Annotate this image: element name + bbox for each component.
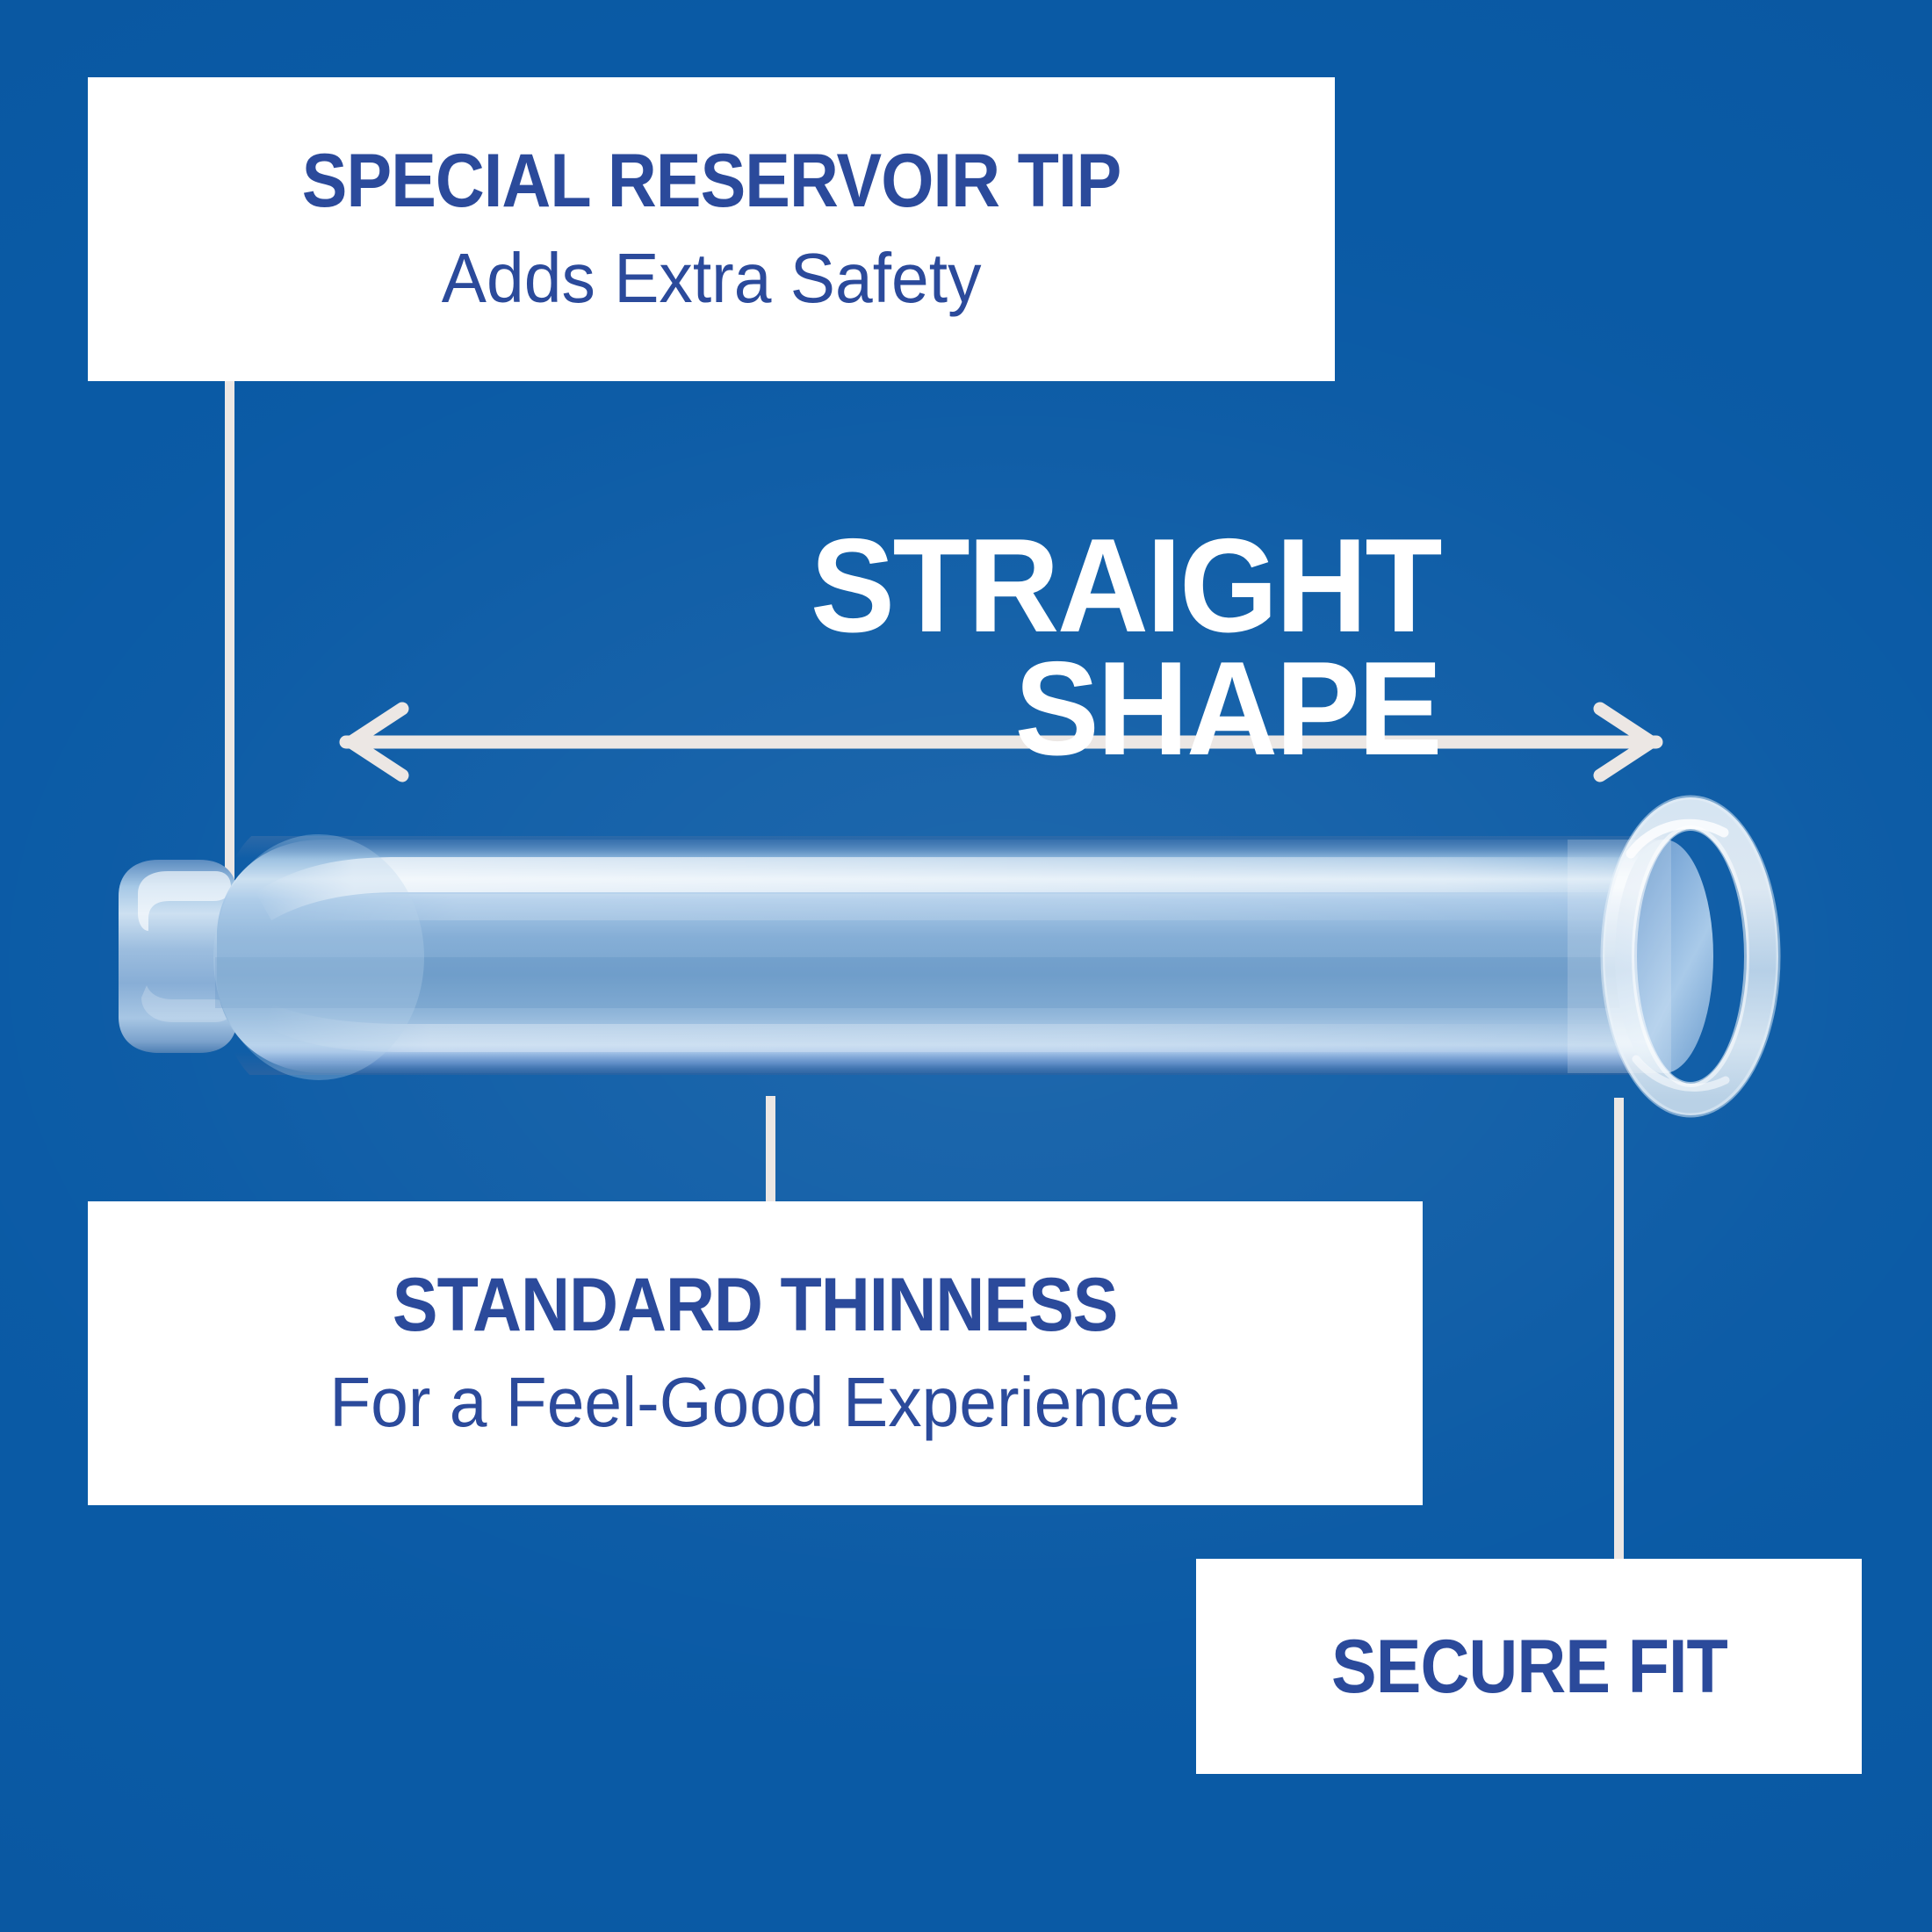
body-upper-glow xyxy=(294,894,1664,920)
body-bottom-edge xyxy=(215,1052,1673,1075)
callout-secure-fit-title: SECURE FIT xyxy=(1331,1629,1727,1705)
body-mid-shadow xyxy=(215,957,1673,1008)
condom-illustration xyxy=(83,790,1866,1142)
infographic-canvas: STRAIGHT SHAPE xyxy=(0,0,1932,1932)
body-top-edge xyxy=(215,836,1673,859)
headline-line-1: STRAIGHT xyxy=(406,525,1440,648)
condom-body-shading xyxy=(213,834,1673,1080)
callout-secure-fit[interactable]: SECURE FIT xyxy=(1196,1559,1862,1774)
double-headed-width-arrow xyxy=(334,698,1669,786)
leader-line-secure-fit xyxy=(1614,1098,1624,1561)
callout-reservoir-tip-title: SPECIAL RESERVOIR TIP xyxy=(302,143,1121,219)
callout-standard-thinness-title: STANDARD THINNESS xyxy=(393,1267,1118,1343)
callout-reservoir-tip-subtitle: Adds Extra Safety xyxy=(442,241,982,315)
neck-translucency xyxy=(1568,840,1671,1073)
callout-standard-thinness[interactable]: STANDARD THINNESS For a Feel-Good Experi… xyxy=(88,1201,1423,1505)
tip-bulge-light xyxy=(213,834,424,1080)
callout-standard-thinness-subtitle: For a Feel-Good Experience xyxy=(330,1366,1181,1439)
callout-reservoir-tip[interactable]: SPECIAL RESERVOIR TIP Adds Extra Safety xyxy=(88,77,1335,381)
